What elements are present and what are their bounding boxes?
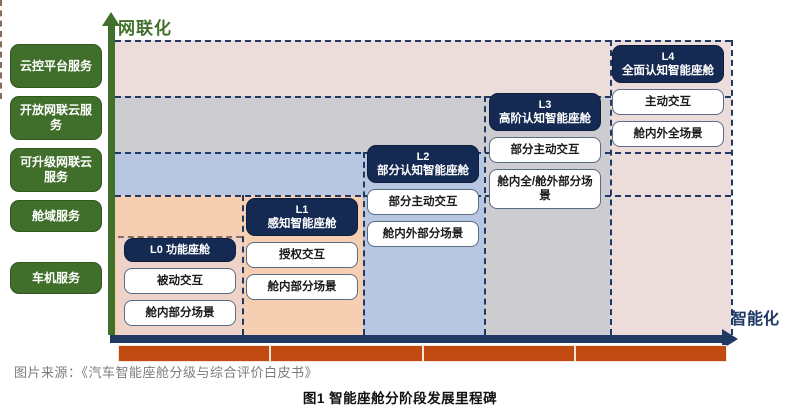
level-item: 舱内部分场景 xyxy=(246,274,358,300)
level-block-l4[interactable]: L4 全面认知智能座舱 主动交互 舱内外全场景 xyxy=(612,45,724,147)
level-item: 被动交互 xyxy=(124,268,236,294)
level-header-l1: L1 感知智能座舱 xyxy=(246,198,358,236)
figure-caption: 图1 智能座舱分阶段发展里程碑 xyxy=(0,387,800,407)
level-block-l1[interactable]: L1 感知智能座舱 授权交互 舱内部分场景 xyxy=(246,198,358,300)
sidebar-item-cloud-platform-service[interactable]: 云控平台服务 xyxy=(10,44,102,88)
level-name: 全面认知智能座舱 xyxy=(618,64,718,78)
level-item: 主动交互 xyxy=(612,89,724,115)
level-code: L3 xyxy=(495,98,595,112)
level-block-l0[interactable]: L0 功能座舱 被动交互 舱内部分场景 xyxy=(124,238,236,326)
level-item: 舱内部分场景 xyxy=(124,300,236,326)
sidebar-item-vehicle-machine-service[interactable]: 车机服务 xyxy=(10,262,102,294)
progress-segment xyxy=(270,345,422,362)
progress-segment xyxy=(118,345,270,362)
level-header-l3: L3 高阶认知智能座舱 xyxy=(489,93,601,131)
level-item: 部分主动交互 xyxy=(367,189,479,215)
y-axis-label: 网联化 xyxy=(118,14,172,39)
source-note: 图片来源：《汽车智能座舱分级与综合评价白皮书》 xyxy=(14,362,318,381)
level-code: L4 xyxy=(618,50,718,64)
level-code: L1 xyxy=(252,203,352,217)
x-axis-line xyxy=(110,335,726,343)
sidebar-item-open-connected-cloud-service[interactable]: 开放网联云服务 xyxy=(10,96,102,140)
level-item: 舱内外全场景 xyxy=(612,121,724,147)
level-code: L2 xyxy=(373,150,473,164)
x-axis-label: 智能化 xyxy=(731,305,779,329)
progress-segment xyxy=(423,345,575,362)
sidebar-item-cabin-domain-service[interactable]: 舱域服务 xyxy=(10,200,102,232)
level-header-l2: L2 部分认知智能座舱 xyxy=(367,145,479,183)
column-divider-l2 xyxy=(363,152,365,335)
level-item: 舱内外部分场景 xyxy=(367,221,479,247)
level-block-l2[interactable]: L2 部分认知智能座舱 部分主动交互 舱内外部分场景 xyxy=(367,145,479,247)
progress-segment xyxy=(575,345,727,362)
level-name: 感知智能座舱 xyxy=(252,217,352,231)
band-divider-top xyxy=(115,40,731,42)
progress-bar xyxy=(118,345,727,362)
level-name: 高阶认知智能座舱 xyxy=(495,112,595,126)
level-header-l0: L0 功能座舱 xyxy=(124,238,236,262)
column-divider-l1 xyxy=(242,195,244,335)
column-divider-right xyxy=(731,40,733,335)
level-item: 授权交互 xyxy=(246,242,358,268)
column-divider-l3 xyxy=(484,96,486,335)
level-name: 部分认知智能座舱 xyxy=(373,164,473,178)
level-item: 部分主动交互 xyxy=(489,137,601,163)
y-axis-line xyxy=(108,22,115,335)
level-header-l4: L4 全面认知智能座舱 xyxy=(612,45,724,83)
level-block-l3[interactable]: L3 高阶认知智能座舱 部分主动交互 舱内全/舱外部分场景 xyxy=(489,93,601,209)
sidebar-item-upgradable-connected-cloud-service[interactable]: 可升级网联云服务 xyxy=(10,148,102,192)
level-item: 舱内全/舱外部分场景 xyxy=(489,169,601,209)
milestone-figure: 网联化 智能化 云控平台服务 开放网联云服务 可升级网联云服务 舱域服务 车机服… xyxy=(0,0,800,412)
